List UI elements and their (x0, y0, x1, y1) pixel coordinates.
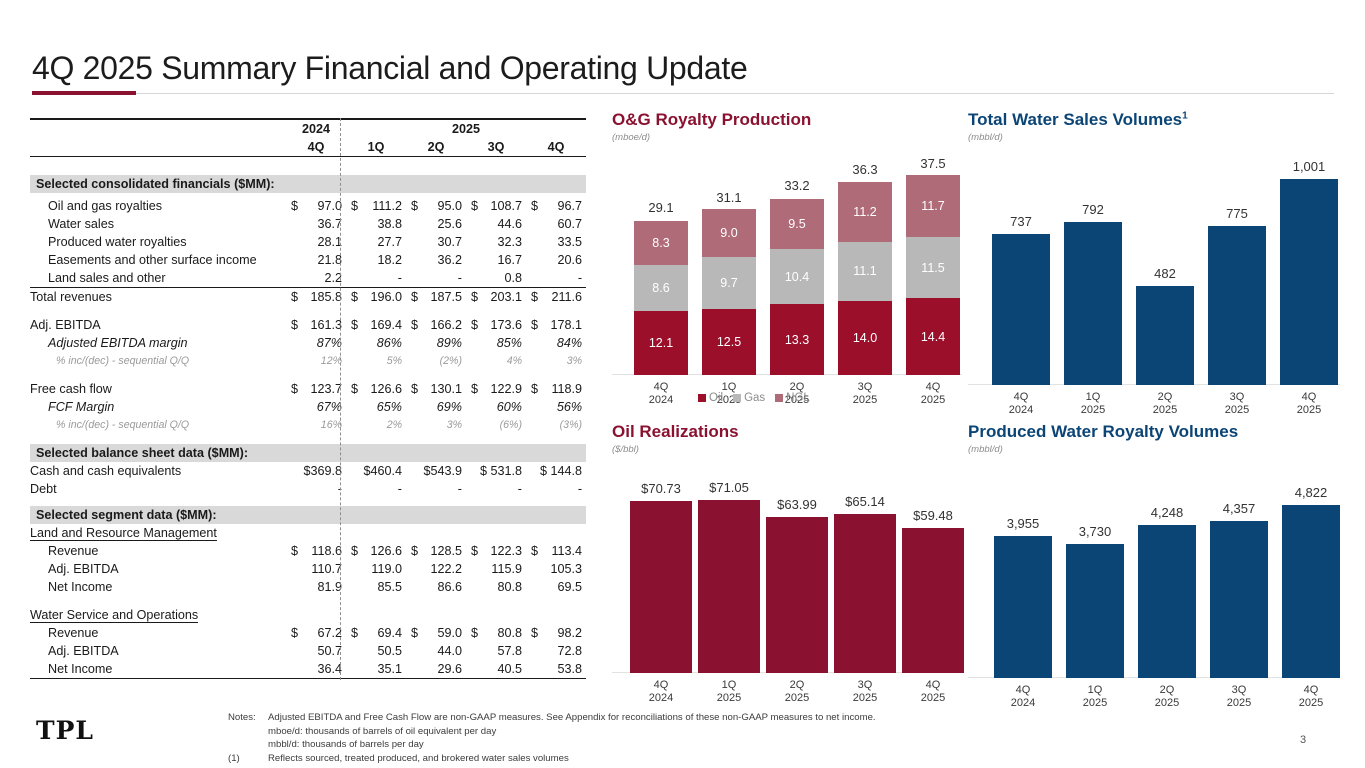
bar-value-label-0: 3,955 (994, 516, 1052, 531)
cell-value: 185.8 (310, 290, 342, 304)
currency-symbol: $ (471, 199, 478, 213)
currency-symbol: $ (471, 290, 478, 304)
bar-column-1: 792 (1064, 157, 1122, 385)
x-tick-line: 4Q (902, 679, 964, 692)
table-cell: $108.7 (466, 197, 526, 215)
bar-segment-ngl: 11.7 (906, 175, 960, 237)
bar-column-2: 13.310.49.533.2 (770, 157, 824, 375)
chart-plot-area: 12.18.68.329.112.59.79.031.113.310.49.53… (612, 157, 962, 375)
footer-footnote-text: Reflects sourced, treated produced, and … (268, 752, 569, 766)
cell-value: 211.6 (551, 290, 582, 304)
currency-symbol: $ (471, 544, 478, 558)
x-tick-line: 2Q (1136, 391, 1194, 404)
cell-value: 98.2 (558, 626, 583, 640)
table-cell: $97.0 (286, 197, 346, 215)
table-cell: 33.5 (526, 233, 586, 251)
x-tick-line: 2024 (992, 404, 1050, 417)
cell-value: 173.6 (490, 318, 522, 332)
table-cell: 84% (526, 334, 586, 352)
row-label: FCF Margin (30, 398, 286, 416)
x-tick-line: 2025 (1066, 697, 1124, 710)
table-cell: $67.2 (286, 624, 346, 642)
table-row: Debt----- (30, 480, 586, 498)
legend-label: Gas (744, 392, 765, 404)
table-cell: $122.3 (466, 542, 526, 560)
x-tick-line: 2025 (1210, 697, 1268, 710)
table-cell: $173.6 (466, 316, 526, 334)
x-tick-line: 2024 (634, 394, 688, 407)
bar-column-4: $59.48 (902, 473, 964, 673)
table-cell (30, 138, 286, 157)
table-cell: $187.5 (406, 288, 466, 307)
currency-symbol: $ (291, 382, 298, 396)
x-tick-line: 2025 (834, 692, 896, 705)
x-axis-tick-4: 4Q2025 (906, 381, 960, 407)
table-cell: 38.8 (346, 215, 406, 233)
table-bottom-rule (30, 679, 586, 682)
header-quarter-0: 4Q (286, 138, 346, 157)
x-tick-line: 2025 (1136, 404, 1194, 417)
table-row: Produced water royalties28.127.730.732.3… (30, 233, 586, 251)
stacked-bar: 12.18.68.3 (634, 220, 688, 375)
currency-symbol: $ (351, 544, 358, 558)
table-cell: $96.7 (526, 197, 586, 215)
table-cell: 115.9 (466, 560, 526, 578)
currency-symbol: $ (531, 382, 538, 396)
table-row: Revenue$67.2$69.4$59.0$80.8$98.2 (30, 624, 586, 642)
cell-value: 69.4 (377, 626, 402, 640)
table-row: Adj. EBITDA$161.3$169.4$166.2$173.6$178.… (30, 316, 586, 334)
table-cell: $118.6 (286, 542, 346, 560)
table-cell: 2% (346, 416, 406, 434)
table-row: Oil and gas royalties$97.0$111.2$95.0$10… (30, 197, 586, 215)
row-label: Adj. EBITDA (30, 316, 286, 334)
bar-value-label-2: 4,248 (1138, 505, 1196, 520)
currency-symbol: $ (531, 626, 538, 640)
table-row: Total revenues$185.8$196.0$187.5$203.1$2… (30, 288, 586, 307)
row-label: Debt (30, 480, 286, 498)
header-quarter-4: 4Q (526, 138, 586, 157)
row-label: Revenue (30, 624, 286, 642)
stacked-bar: 13.310.49.5 (770, 198, 824, 375)
table-cell: $122.9 (466, 380, 526, 398)
cell-value: 166.2 (430, 318, 462, 332)
cell-value: 203.1 (490, 290, 522, 304)
segment-value-label: 14.0 (853, 331, 877, 345)
cell-value: 97.0 (317, 199, 342, 213)
bar-value-label-4: $59.48 (902, 508, 964, 523)
table-cell: - (406, 269, 466, 288)
table-spacer-row (30, 498, 586, 506)
bar-value-label-1: $71.05 (698, 480, 760, 495)
table-cell: 36.2 (406, 251, 466, 269)
row-label: Produced water royalties (30, 233, 286, 251)
table-cell: $ 144.8 (526, 462, 586, 480)
table-cell: 32.3 (466, 233, 526, 251)
table-cell: 81.9 (286, 578, 346, 596)
table-cell: $203.1 (466, 288, 526, 307)
segment-value-label: 8.3 (652, 236, 669, 250)
row-label: Land sales and other (30, 269, 286, 288)
x-tick-line: 2Q (766, 679, 828, 692)
x-axis-tick-4: 4Q2025 (1282, 684, 1340, 710)
title-accent-bar (32, 91, 136, 95)
bar-column-4: 14.411.511.737.5 (906, 157, 960, 375)
table-cell: $ 531.8 (466, 462, 526, 480)
table-cell: $161.3 (286, 316, 346, 334)
bar-column-3: 14.011.111.236.3 (838, 157, 892, 375)
table-cell: $69.4 (346, 624, 406, 642)
currency-symbol: $ (531, 544, 538, 558)
segment-value-label: 11.7 (921, 199, 944, 213)
x-tick-line: 2025 (1282, 697, 1340, 710)
currency-symbol: $ (291, 199, 298, 213)
row-label: Total revenues (30, 288, 286, 307)
footer-note-tag (228, 725, 268, 739)
bar-total-label-4: 37.5 (906, 156, 960, 171)
table-section-band: Selected segment data ($MM): (30, 506, 586, 524)
table-row: FCF Margin67%65%69%60%56% (30, 398, 586, 416)
cell-value: 118.6 (311, 544, 342, 558)
table-cell: 50.5 (346, 642, 406, 660)
table-cell: $178.1 (526, 316, 586, 334)
currency-symbol: $ (351, 199, 358, 213)
row-label: Net Income (30, 578, 286, 596)
bar (902, 528, 964, 673)
currency-symbol: $ (411, 318, 418, 332)
table-cell: (6%) (466, 416, 526, 434)
x-axis-tick-1: 1Q2025 (1066, 684, 1124, 710)
bar-value-label-1: 792 (1064, 202, 1122, 217)
table-spacer-row (30, 370, 586, 380)
x-tick-line: 4Q (992, 391, 1050, 404)
segment-value-label: 9.0 (720, 226, 737, 240)
x-axis-tick-4: 4Q2025 (902, 679, 964, 705)
bar-value-label-0: 737 (992, 214, 1050, 229)
table-cell: 4% (466, 352, 526, 370)
table-cell: 86% (346, 334, 406, 352)
x-axis-tick-1: 1Q2025 (698, 679, 760, 705)
bar (1210, 521, 1268, 678)
cell-value: 122.3 (490, 544, 522, 558)
segment-value-label: 10.4 (785, 270, 809, 284)
x-axis-tick-3: 3Q2025 (1210, 684, 1268, 710)
table-cell: 85% (466, 334, 526, 352)
bar (992, 234, 1050, 385)
header-quarter-1: 1Q (346, 138, 406, 157)
table-row: Easements and other surface income21.818… (30, 251, 586, 269)
table-cell: $196.0 (346, 288, 406, 307)
chart-unit-label: ($/bbl) (612, 444, 962, 455)
table-cell: 56% (526, 398, 586, 416)
cell-value: 169.4 (370, 318, 402, 332)
x-axis-tick-2: 2Q2025 (1136, 391, 1194, 417)
chart-unit-label: (mboe/d) (612, 132, 962, 143)
table-cell: - (406, 480, 466, 498)
currency-symbol: $ (351, 626, 358, 640)
bar-segment-gas: 11.1 (838, 242, 892, 301)
table-cell: 67% (286, 398, 346, 416)
cell-value: 59.0 (437, 626, 462, 640)
table-cell: - (346, 269, 406, 288)
financial-table: 202420254Q1Q2Q3Q4QSelected consolidated … (30, 118, 586, 681)
table-cell: 60.7 (526, 215, 586, 233)
legend-item-oil: Oil (698, 392, 723, 404)
header-quarter-3: 3Q (466, 138, 526, 157)
x-tick-line: 2025 (1138, 697, 1196, 710)
footer-note-tag (228, 738, 268, 752)
row-label: Free cash flow (30, 380, 286, 398)
bar (1282, 505, 1340, 678)
row-label: Water sales (30, 215, 286, 233)
table-cell: 18.2 (346, 251, 406, 269)
table-cell: 36.4 (286, 660, 346, 679)
bar-total-label-2: 33.2 (770, 178, 824, 193)
table-cell: 28.1 (286, 233, 346, 251)
bar-column-2: 482 (1136, 157, 1194, 385)
financial-table-grid: 202420254Q1Q2Q3Q4QSelected consolidated … (30, 118, 586, 681)
table-row: Adjusted EBITDA margin87%86%89%85%84% (30, 334, 586, 352)
footer-note-text: mbbl/d: thousands of barrels per day (268, 738, 424, 752)
x-tick-line: 2025 (1280, 404, 1338, 417)
table-cell: 30.7 (406, 233, 466, 251)
table-cell: 57.8 (466, 642, 526, 660)
subhead-label: Water Service and Operations (30, 608, 198, 623)
table-cell: 119.0 (346, 560, 406, 578)
bar-segment-gas: 9.7 (702, 257, 756, 309)
table-cell: 12% (286, 352, 346, 370)
bar-column-1: 3,730 (1066, 473, 1124, 678)
x-tick-line: 2025 (698, 692, 760, 705)
table-cell: - (526, 269, 586, 288)
bar-segment-oil: 13.3 (770, 304, 824, 375)
table-row: Adj. EBITDA50.750.544.057.872.8 (30, 642, 586, 660)
cell-value: 111.2 (372, 199, 402, 213)
table-cell: 44.6 (466, 215, 526, 233)
footer-note-text: Adjusted EBITDA and Free Cash Flow are n… (268, 711, 876, 725)
chart-title-superscript: 1 (1182, 110, 1188, 121)
table-cell: (2%) (406, 352, 466, 370)
chart-title: Total Water Sales Volumes1 (968, 110, 1340, 130)
bar-column-2: 4,248 (1138, 473, 1196, 678)
currency-symbol: $ (291, 626, 298, 640)
table-row: Free cash flow$123.7$126.6$130.1$122.9$1… (30, 380, 586, 398)
table-cell (30, 119, 286, 138)
x-tick-line: 4Q (1280, 391, 1338, 404)
cell-value: 178.1 (551, 318, 583, 332)
table-cell: 122.2 (406, 560, 466, 578)
bar-column-3: 4,357 (1210, 473, 1268, 678)
table-cell: 0.8 (466, 269, 526, 288)
segment-value-label: 9.5 (788, 217, 805, 231)
table-cell: $126.6 (346, 380, 406, 398)
currency-symbol: $ (531, 290, 538, 304)
cell-value: 96.7 (558, 199, 583, 213)
cell-value: 126.6 (370, 544, 402, 558)
table-cell: $113.4 (526, 542, 586, 560)
chart-unit-label: (mbbl/d) (968, 132, 1340, 143)
x-tick-line: 2024 (630, 692, 692, 705)
table-row: Cash and cash equivalents$369.8$460.4$54… (30, 462, 586, 480)
table-header-years: 20242025 (30, 119, 586, 138)
table-cell: 16% (286, 416, 346, 434)
currency-symbol: $ (351, 290, 358, 304)
currency-symbol: $ (531, 318, 538, 332)
segment-value-label: 13.3 (785, 333, 809, 347)
bar-column-3: 775 (1208, 157, 1266, 385)
table-spacer-row (30, 434, 586, 444)
cell-value: 123.7 (310, 382, 342, 396)
x-tick-line: 3Q (1208, 391, 1266, 404)
x-tick-line: 3Q (834, 679, 896, 692)
bar-segment-gas: 10.4 (770, 249, 824, 304)
x-tick-line: 4Q (906, 381, 960, 394)
segment-value-label: 14.4 (921, 330, 945, 344)
table-cell: $111.2 (346, 197, 406, 215)
bar (1064, 222, 1122, 385)
page-title: 4Q 2025 Summary Financial and Operating … (32, 50, 748, 87)
bar-segment-ngl: 9.5 (770, 199, 824, 250)
row-label: Adj. EBITDA (30, 642, 286, 660)
currency-symbol: $ (471, 318, 478, 332)
chart-title: O&G Royalty Production (612, 110, 962, 130)
chart-title: Oil Realizations (612, 422, 962, 442)
row-label: % inc/(dec) - sequential Q/Q (30, 352, 286, 370)
table-cell: 69.5 (526, 578, 586, 596)
chart-og-royalty-production: O&G Royalty Production(mboe/d)12.18.68.3… (612, 110, 962, 410)
table-cell: $59.0 (406, 624, 466, 642)
cell-value: 130.1 (430, 382, 462, 396)
legend-swatch (733, 394, 741, 402)
table-cell: 87% (286, 334, 346, 352)
x-axis-tick-0: 4Q2024 (994, 684, 1052, 710)
cell-value: 113.4 (551, 544, 582, 558)
bar (834, 514, 896, 673)
chart-plot-area: 7377924827751,0014Q20241Q20252Q20253Q202… (968, 157, 1340, 385)
table-cell: $211.6 (526, 288, 586, 307)
bar-total-label-3: 36.3 (838, 162, 892, 177)
bar-segment-ngl: 11.2 (838, 182, 892, 242)
bar (766, 517, 828, 673)
bar-column-0: 737 (992, 157, 1050, 385)
table-subhead-row: Land and Resource Management (30, 524, 586, 542)
table-cell: $118.9 (526, 380, 586, 398)
table-cell: 29.6 (406, 660, 466, 679)
row-label: Oil and gas royalties (30, 197, 286, 215)
tpl-logo: TPL (36, 716, 94, 745)
bar-column-0: 12.18.68.329.1 (634, 157, 688, 375)
legend-label: NGL (786, 392, 810, 404)
table-cell: 3% (526, 352, 586, 370)
segment-value-label: 9.7 (720, 276, 737, 290)
table-cell: 72.8 (526, 642, 586, 660)
currency-symbol: $ (531, 199, 538, 213)
x-tick-line: 2025 (1064, 404, 1122, 417)
bar-value-label-4: 4,822 (1282, 485, 1340, 500)
x-axis-tick-1: 1Q2025 (1064, 391, 1122, 417)
currency-symbol: $ (411, 382, 418, 396)
legend-item-gas: Gas (733, 392, 765, 404)
table-row: Adj. EBITDA110.7119.0122.2115.9105.3 (30, 560, 586, 578)
bar-column-1: $71.05 (698, 473, 760, 673)
bar-column-3: $65.14 (834, 473, 896, 673)
bar-segment-gas: 11.5 (906, 237, 960, 298)
table-cell: $169.4 (346, 316, 406, 334)
x-tick-line: 2Q (1138, 684, 1196, 697)
table-cell: 53.8 (526, 660, 586, 679)
table-cell: $80.8 (466, 624, 526, 642)
bar-value-label-3: 775 (1208, 206, 1266, 221)
bar-column-2: $63.99 (766, 473, 828, 673)
row-label: Revenue (30, 542, 286, 560)
table-row: Net Income81.985.586.680.869.5 (30, 578, 586, 596)
footer-note-row: mboe/d: thousands of barrels of oil equi… (228, 725, 876, 739)
legend-swatch (698, 394, 706, 402)
bar (630, 501, 692, 674)
table-spacer-row (30, 306, 586, 316)
segment-value-label: 11.1 (853, 264, 876, 278)
table-cell: - (526, 480, 586, 498)
stacked-bar: 14.411.511.7 (906, 176, 960, 375)
cell-value: 126.6 (370, 382, 402, 396)
cell-value: 122.9 (490, 382, 522, 396)
legend-label: Oil (709, 392, 723, 404)
x-axis-tick-4: 4Q2025 (1280, 391, 1338, 417)
bar-value-label-3: $65.14 (834, 494, 896, 509)
bar-segment-oil: 12.5 (702, 309, 756, 375)
x-tick-line: 2025 (766, 692, 828, 705)
chart-plot-area: $70.73$71.05$63.99$65.14$59.484Q20241Q20… (612, 473, 962, 673)
bar-value-label-2: $63.99 (766, 497, 828, 512)
table-cell: $128.5 (406, 542, 466, 560)
cell-value: 161.3 (310, 318, 342, 332)
table-section-band: Selected balance sheet data ($MM): (30, 444, 586, 462)
x-axis-tick-2: 2Q2025 (766, 679, 828, 705)
x-axis-tick-3: 3Q2025 (1208, 391, 1266, 417)
table-spacer-row (30, 596, 586, 606)
table-cell: 105.3 (526, 560, 586, 578)
table-cell: $543.9 (406, 462, 466, 480)
chart-oil-realizations: Oil Realizations($/bbl)$70.73$71.05$63.9… (612, 422, 962, 694)
table-cell: 35.1 (346, 660, 406, 679)
footer-footnote-row: (1)Reflects sourced, treated produced, a… (228, 752, 876, 766)
chart-produced-water-royalty-volumes: Produced Water Royalty Volumes(mbbl/d)3,… (968, 422, 1340, 694)
x-tick-line: 2024 (994, 697, 1052, 710)
header-year-2025: 2025 (346, 119, 586, 138)
currency-symbol: $ (351, 318, 358, 332)
footer-notes: Notes:Adjusted EBITDA and Free Cash Flow… (228, 711, 876, 765)
currency-symbol: $ (291, 290, 298, 304)
table-cell: (3%) (526, 416, 586, 434)
table-cell: 16.7 (466, 251, 526, 269)
footer-note-tag: Notes: (228, 711, 268, 725)
row-label: Cash and cash equivalents (30, 462, 286, 480)
header-year-2024: 2024 (286, 119, 346, 138)
x-tick-line: 3Q (838, 381, 892, 394)
x-tick-line: 3Q (1210, 684, 1268, 697)
x-axis-tick-2: 2Q2025 (1138, 684, 1196, 710)
cell-value: 67.2 (317, 626, 342, 640)
header-quarter-2: 2Q (406, 138, 466, 157)
x-tick-line: 4Q (630, 679, 692, 692)
bar-column-0: $70.73 (630, 473, 692, 673)
currency-symbol: $ (411, 544, 418, 558)
x-tick-line: 4Q (994, 684, 1052, 697)
x-axis-tick-3: 3Q2025 (838, 381, 892, 407)
segment-value-label: 12.5 (717, 335, 741, 349)
table-period-divider (340, 118, 341, 680)
bar-total-label-0: 29.1 (634, 200, 688, 215)
